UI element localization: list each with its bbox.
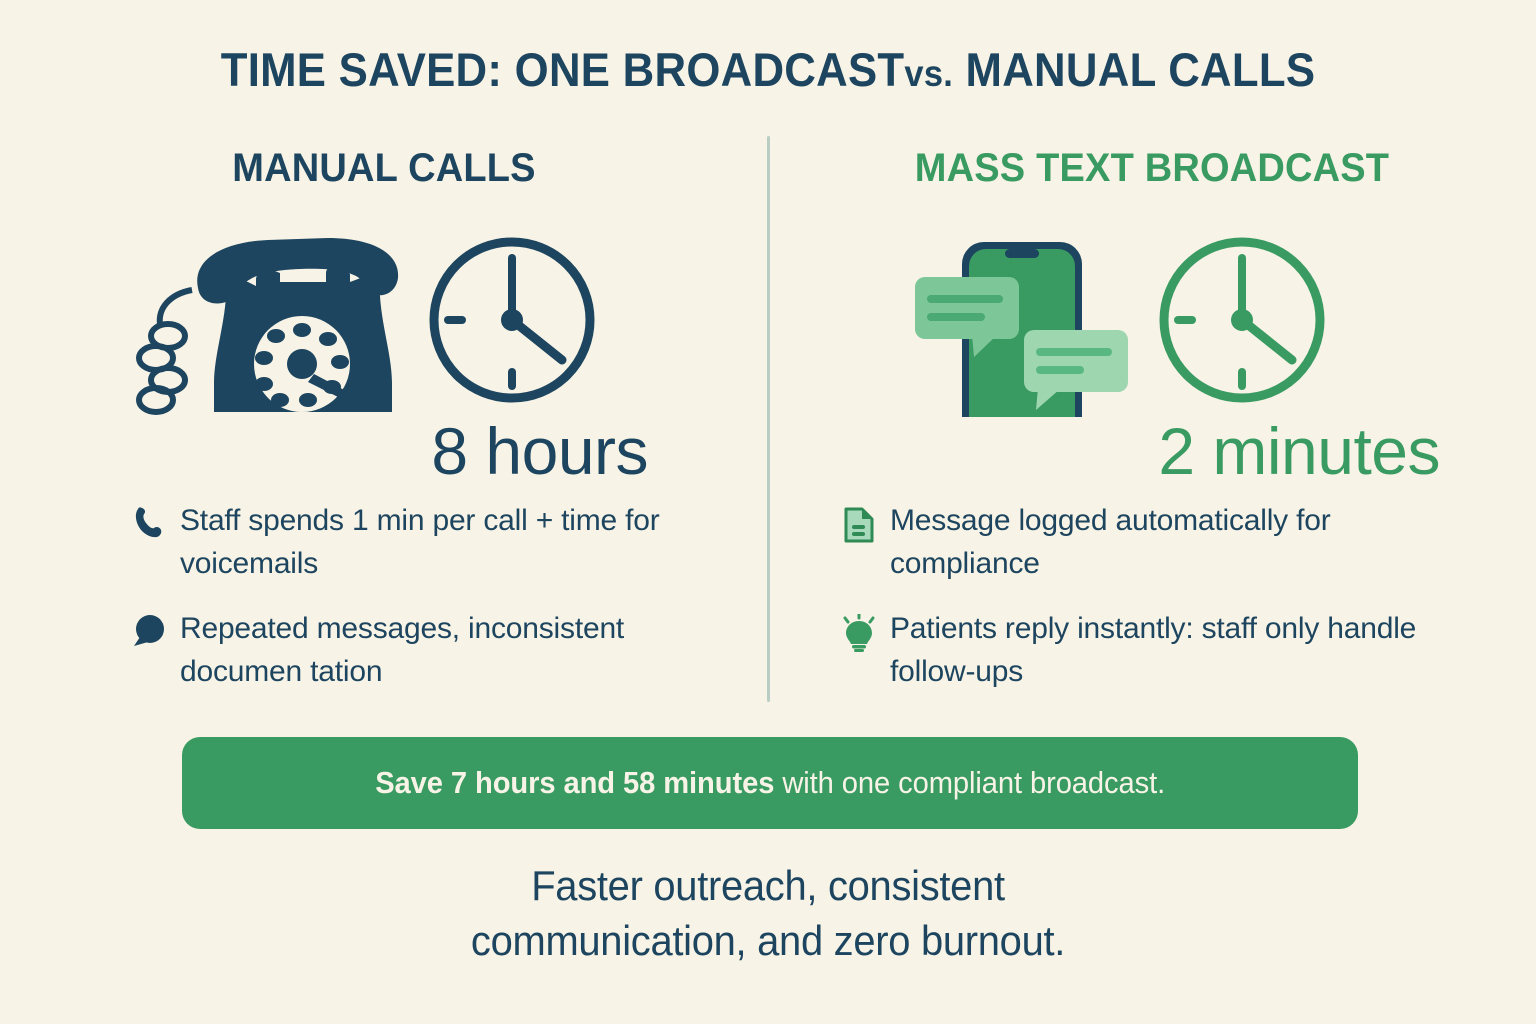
highlight-banner: Save 7 hours and 58 minutes with one com… [182, 737, 1358, 829]
list-item: Staff spends 1 min per call + time for v… [126, 500, 746, 586]
list-item-label: Message logged automatically for complia… [882, 500, 1456, 586]
lightbulb-icon [836, 608, 882, 670]
clock-icon [434, 242, 590, 398]
bullet-list-manual-calls: Staff spends 1 min per call + time for v… [126, 500, 746, 716]
highlight-banner-bold: Save 7 hours and 58 minutes [375, 765, 774, 800]
column-heading-mass-text-broadcast: MASS TEXT BROADCAST [787, 146, 1517, 190]
list-item-label: Patients reply instantly: staff only han… [882, 608, 1456, 694]
rotary-phone-and-clock-illustration [130, 232, 620, 417]
speech-bubble-icon [126, 608, 172, 670]
column-heading-manual-calls: MANUAL CALLS [19, 146, 749, 190]
page-title: TIME SAVED: ONE BROADCASTvs. MANUAL CALL… [54, 44, 1482, 96]
list-item: Message logged automatically for complia… [836, 500, 1456, 586]
infographic-canvas: TIME SAVED: ONE BROADCASTvs. MANUAL CALL… [0, 0, 1536, 1024]
title-part1: TIME SAVED: ONE BROADCAST [221, 43, 905, 96]
footer-line-2: communication, and zero burnout. [38, 913, 1497, 968]
clock-icon [1164, 242, 1320, 398]
smartphone-chat-and-clock-illustration [912, 232, 1362, 417]
left-illustration-group [130, 232, 620, 422]
phone-handset-icon [126, 500, 172, 562]
footer-tagline: Faster outreach, consistent communicatio… [38, 858, 1497, 969]
bullet-list-mass-text: Message logged automatically for complia… [836, 500, 1456, 716]
highlight-banner-text: Save 7 hours and 58 minutes with one com… [375, 765, 1165, 801]
footer-line-1: Faster outreach, consistent [38, 858, 1497, 913]
list-item-label: Staff spends 1 min per call + time for v… [172, 500, 746, 586]
title-vs: vs. [904, 53, 953, 94]
list-item: Repeated messages, inconsistent documen … [126, 608, 746, 694]
document-icon [836, 500, 882, 562]
column-divider [767, 136, 770, 702]
title-part2: MANUAL CALLS [966, 43, 1316, 96]
list-item: Patients reply instantly: staff only han… [836, 608, 1456, 694]
metric-value-mass-text: 2 minutes [820, 418, 1440, 484]
phone-cord-icon [139, 290, 192, 412]
metric-value-manual-calls: 8 hours [0, 418, 648, 484]
highlight-banner-rest: with one compliant broadcast. [774, 765, 1165, 800]
right-illustration-group [912, 232, 1362, 422]
list-item-label: Repeated messages, inconsistent documen … [172, 608, 746, 694]
